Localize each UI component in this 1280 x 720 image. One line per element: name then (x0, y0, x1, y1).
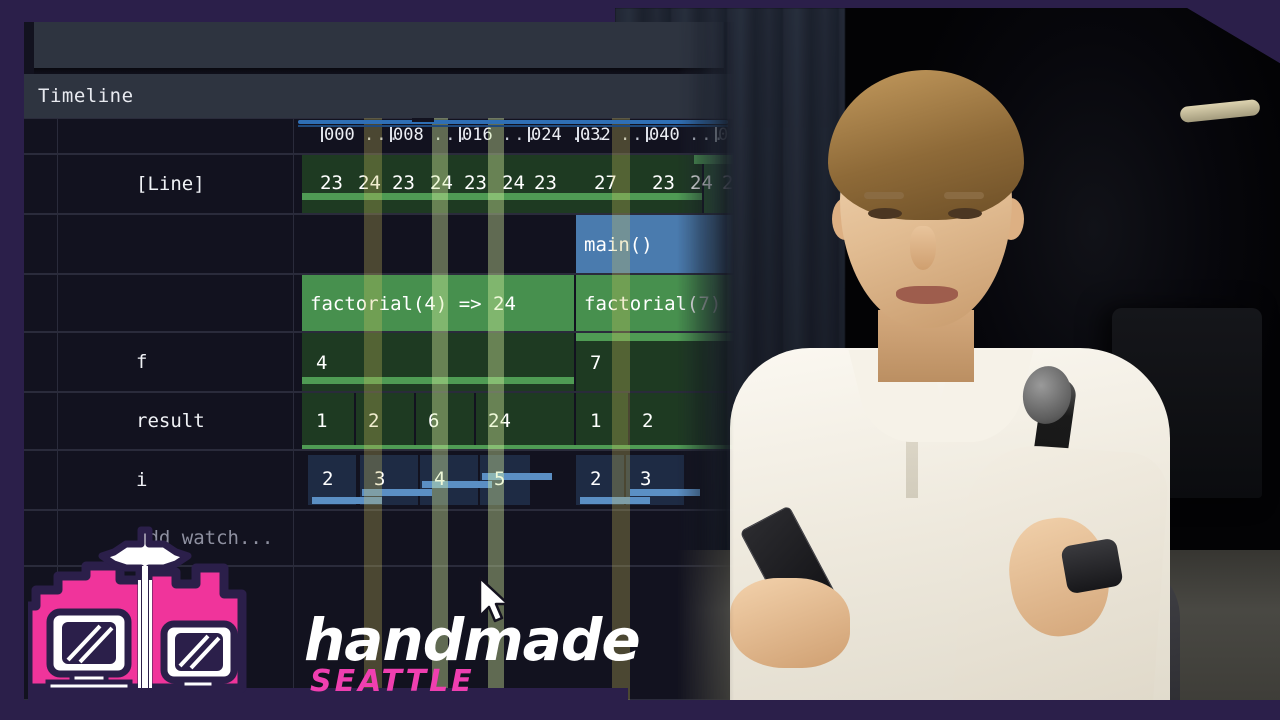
table-row-main: main() (24, 214, 734, 274)
row-gutter (34, 451, 58, 509)
page-title: Timeline (38, 85, 134, 107)
scrollbar-thumb[interactable] (298, 120, 728, 124)
table-row-factorial: factorial(4) => 24 factorial(7) (24, 274, 734, 332)
row-label (58, 275, 294, 331)
line-value: 27 (586, 163, 620, 203)
main-call-track[interactable]: main() (294, 215, 734, 273)
speaker-figure (710, 48, 1180, 700)
line-value: 24 (494, 163, 528, 203)
row-gutter (34, 333, 58, 391)
eyebrow-left (864, 192, 904, 199)
ruler-tick (528, 125, 530, 142)
table-row-line: [Line] 23 24 23 24 23 24 23 27 23 (24, 154, 734, 214)
line-value: 23 (384, 163, 418, 203)
hair (828, 70, 1024, 220)
var-i-value: 2 (582, 459, 622, 499)
var-result-value: 2 (634, 401, 674, 441)
var-result-underbar (302, 445, 734, 449)
ruler-label-2: 016 (462, 125, 493, 145)
line-value: 23 (456, 163, 490, 203)
line-value: 23 (312, 163, 346, 203)
line-track[interactable]: 23 24 23 24 23 24 23 27 23 24 23 24 23 (294, 155, 734, 213)
ruler-label-1: 008 (393, 125, 424, 145)
var-result-value: 2 (360, 401, 400, 441)
table-row-i: i 2 3 4 5 (24, 450, 734, 510)
line-value: 24 (682, 163, 716, 203)
table-row-f: f 4 7 (24, 332, 734, 392)
eye-right (948, 208, 982, 219)
row-gutter (34, 119, 58, 153)
line-value: 24 (350, 163, 384, 203)
row-gutter (34, 155, 58, 213)
line-value: 23 (644, 163, 678, 203)
call-block-factorial-7[interactable]: factorial(7) (576, 275, 734, 331)
var-result-value: 1 (582, 401, 622, 441)
row-label (58, 215, 294, 273)
screen-root: Timeline 000 ... 008 ... 016 ... (0, 0, 1280, 720)
nose (910, 226, 936, 270)
var-i-value: 5 (486, 459, 526, 499)
var-f-underbar (576, 333, 734, 341)
eye-left (868, 208, 902, 219)
var-f-value: 7 (582, 343, 622, 383)
hand-holding-phone (730, 578, 850, 668)
table-row-result: result 1 2 6 24 1 2 (24, 392, 734, 450)
var-result-value: 24 (480, 401, 528, 441)
var-f-track[interactable]: 4 7 (294, 333, 734, 391)
var-result-track[interactable]: 1 2 6 24 1 2 (294, 393, 734, 449)
row-gutter (34, 215, 58, 273)
scrollbar-track[interactable] (298, 125, 728, 127)
toolbar-strip[interactable] (34, 22, 724, 68)
row-gutter (34, 393, 58, 449)
ruler-label-4: 032 (580, 125, 611, 145)
ruler-label-5: 040 (649, 125, 680, 145)
crt-monitor-icon-right (164, 624, 234, 688)
ruler-label-0: 000 (324, 125, 355, 145)
var-i-value: 2 (314, 459, 354, 499)
row-label-result: result (58, 393, 294, 449)
ruler-tick (459, 125, 461, 142)
row-label-line: [Line] (58, 155, 294, 213)
row-label-f: f (58, 333, 294, 391)
var-result-value: 6 (420, 401, 460, 441)
row-gutter (34, 275, 58, 331)
ruler-tick (646, 125, 648, 142)
wristwatch (1060, 538, 1123, 595)
eyebrow-right (944, 192, 984, 199)
call-name-prefix: factorial( (584, 293, 698, 315)
scrollbar-notch (412, 118, 434, 122)
mouth (896, 286, 958, 304)
line-value: 23 (526, 163, 560, 203)
ruler-tick (321, 125, 323, 142)
line-value: 23 (714, 163, 734, 203)
var-i-track[interactable]: 2 3 4 5 2 3 (294, 451, 734, 509)
call-block-factorial-4[interactable]: factorial(4) => 24 (302, 275, 574, 331)
call-arg: 7) (698, 293, 721, 315)
ruler-tick (390, 125, 392, 142)
call-block-main[interactable]: main() (576, 215, 734, 273)
line-value: 24 (422, 163, 456, 203)
timeline-title-bar: Timeline (24, 74, 734, 118)
row-label-i: i (58, 451, 294, 509)
factorial-call-track[interactable]: factorial(4) => 24 factorial(7) (294, 275, 734, 331)
mouse-cursor-icon (478, 576, 514, 628)
logo-subtitle: SEATTLE (310, 664, 475, 699)
ruler-label-3: 024 (531, 125, 562, 145)
ruler-label-6: 0 (718, 125, 728, 145)
ruler-tick (715, 125, 717, 142)
var-i-value: 3 (632, 459, 672, 499)
var-result-value: 1 (308, 401, 348, 441)
horizontal-scrollbar[interactable] (294, 118, 734, 127)
var-i-value: 4 (426, 459, 466, 499)
var-f-value: 4 (308, 343, 348, 383)
handmade-seattle-logo: handmade SEATTLE (28, 520, 628, 710)
ruler-tick (577, 125, 579, 142)
var-i-value: 3 (366, 459, 406, 499)
row-label (58, 119, 294, 153)
